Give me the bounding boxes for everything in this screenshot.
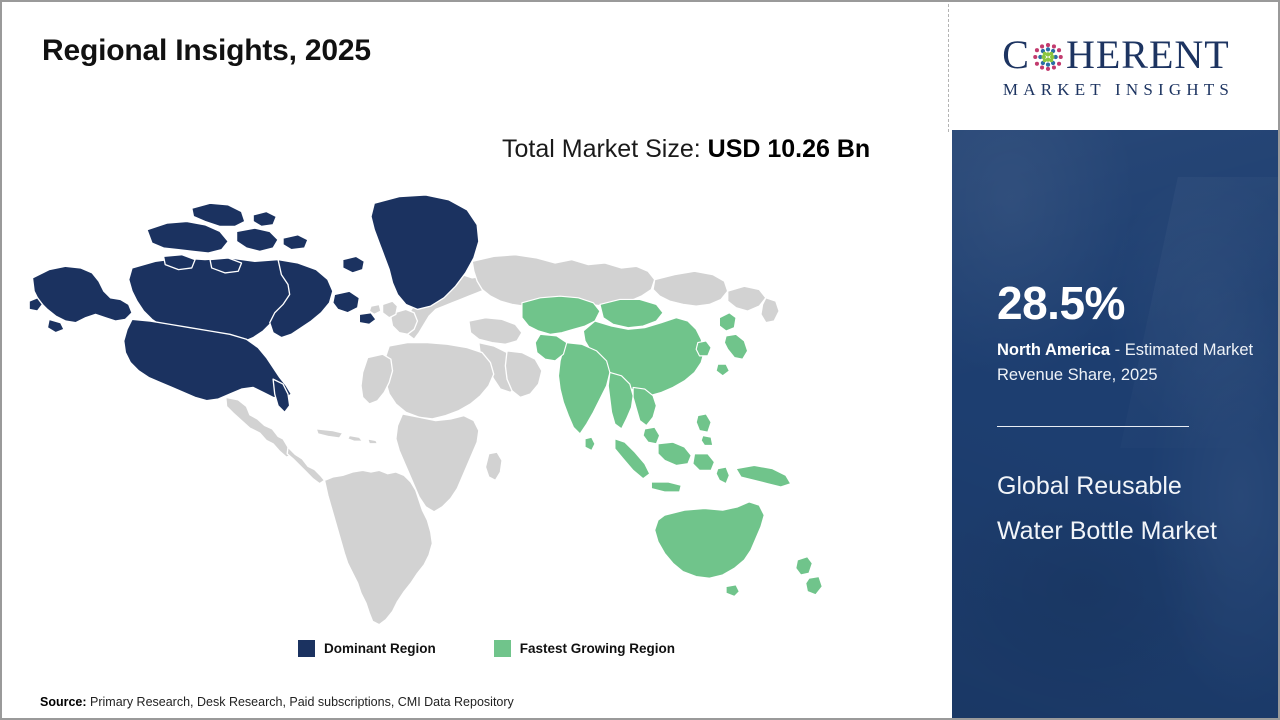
map-legend: Dominant Region Fastest Growing Region	[298, 640, 675, 657]
stat-block: 28.5% North America - Estimated Market R…	[997, 280, 1259, 388]
stats-panel: 28.5% North America - Estimated Market R…	[952, 130, 1280, 720]
source-note: Source: Primary Research, Desk Research,…	[40, 695, 514, 709]
right-sidebar: C	[952, 4, 1280, 720]
logo-subtitle: MARKET INSIGHTS	[998, 80, 1234, 100]
fastest-growing-region-swatch	[494, 640, 511, 657]
stat-region-name: North America	[997, 341, 1110, 359]
total-market-size-value: USD 10.26 Bn	[708, 135, 871, 163]
source-text: Primary Research, Desk Research, Paid su…	[87, 695, 514, 709]
brand-logo[interactable]: C	[952, 4, 1280, 130]
legend-label-dominant: Dominant Region	[324, 641, 436, 656]
infographic-slide: Regional Insights, 2025 Total Market Siz…	[0, 0, 1280, 720]
logo-wordmark: C	[1002, 35, 1229, 75]
legend-label-fastest-growing: Fastest Growing Region	[520, 641, 675, 656]
stat-percent-value: 28.5%	[997, 280, 1259, 326]
stat-caption: North America - Estimated Market Revenue…	[997, 338, 1259, 388]
world-map-svg	[24, 180, 854, 628]
source-label: Source:	[40, 695, 87, 709]
stat-divider	[997, 426, 1189, 427]
market-name: Global Reusable Water Bottle Market	[997, 464, 1227, 554]
left-content-panel: Regional Insights, 2025 Total Market Siz…	[2, 2, 950, 718]
world-map[interactable]	[24, 180, 854, 628]
dashed-divider	[948, 4, 949, 132]
total-market-size: Total Market Size: USD 10.26 Bn	[502, 130, 922, 169]
panel-background-texture	[952, 130, 1280, 720]
globe-dots-icon	[1031, 40, 1065, 74]
page-title: Regional Insights, 2025	[42, 34, 371, 68]
total-market-size-label: Total Market Size:	[502, 135, 708, 163]
legend-item-dominant[interactable]: Dominant Region	[298, 640, 436, 657]
legend-item-fastest-growing[interactable]: Fastest Growing Region	[494, 640, 675, 657]
dominant-region-swatch	[298, 640, 315, 657]
logo-word-right: HERENT	[1066, 35, 1230, 75]
logo-word-left: C	[1002, 35, 1030, 75]
globe-dots-svg	[1031, 40, 1065, 74]
fastest-growing-region-shapes	[522, 296, 822, 596]
